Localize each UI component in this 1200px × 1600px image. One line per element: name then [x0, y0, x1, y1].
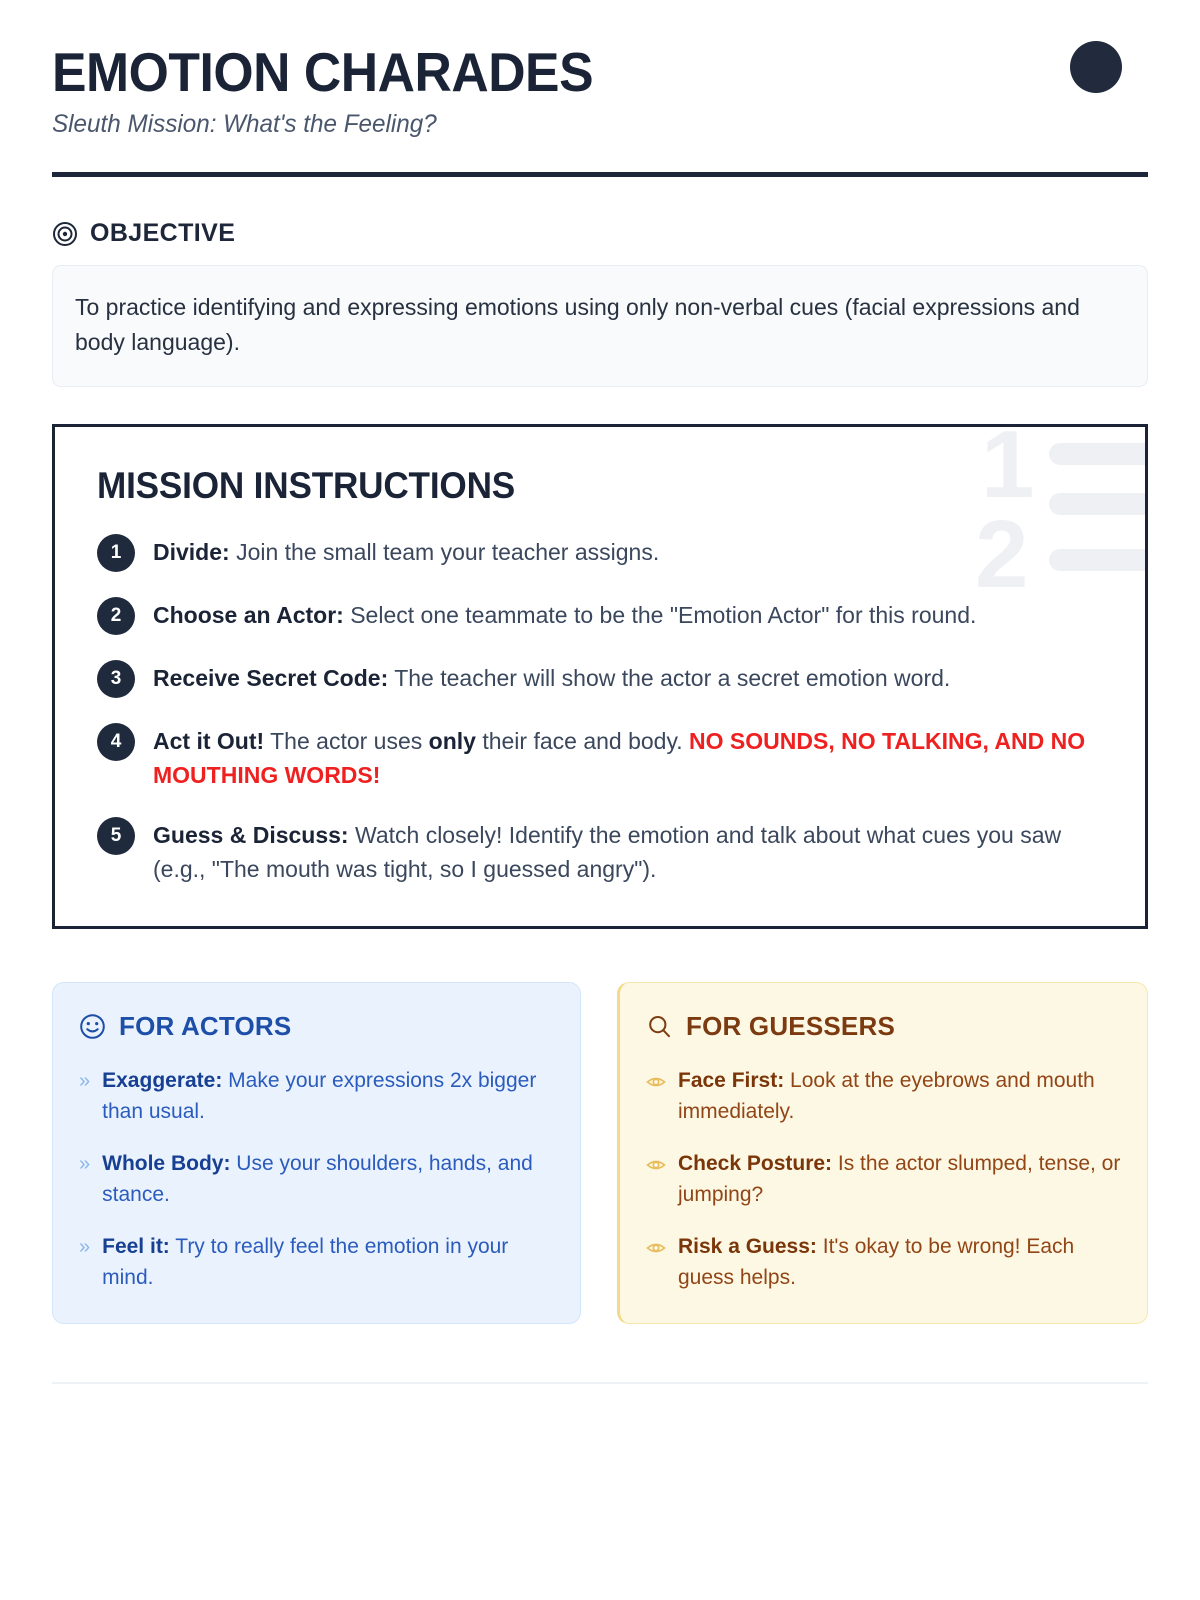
magnifier-icon: [646, 1013, 673, 1040]
step-number-badge: 4: [97, 723, 135, 761]
smiley-face-icon: [79, 1013, 106, 1040]
mission-step: 1 Divide: Join the small team your teach…: [97, 533, 1101, 572]
worksheet-page: EMOTION CHARADES Sleuth Mission: What's …: [0, 0, 1200, 1600]
target-icon: [52, 221, 78, 247]
tip-item: » Whole Body: Use your shoulders, hands,…: [79, 1149, 554, 1211]
tip-label: Face First:: [678, 1069, 784, 1092]
step-emphasis: only: [429, 728, 476, 754]
tip-item: » Exaggerate: Make your expressions 2x b…: [79, 1066, 554, 1128]
double-chevron-right-icon: »: [79, 1232, 90, 1262]
objective-box: To practice identifying and expressing e…: [52, 265, 1148, 387]
step-body-continued: their face and body.: [476, 728, 689, 754]
step-text: Act it Out! The actor uses only their fa…: [153, 722, 1101, 792]
tip-item: Risk a Guess: It's okay to be wrong! Eac…: [646, 1232, 1121, 1294]
step-number-badge: 5: [97, 817, 135, 855]
step-label: Choose an Actor:: [153, 602, 344, 628]
step-number-badge: 2: [97, 597, 135, 635]
tip-label: Whole Body:: [102, 1152, 230, 1175]
step-label: Guess & Discuss:: [153, 822, 349, 848]
step-body: Join the small team your teacher assigns…: [230, 539, 660, 565]
objective-heading-label: OBJECTIVE: [90, 219, 235, 248]
mission-step: 5 Guess & Discuss: Watch closely! Identi…: [97, 816, 1101, 886]
step-text: Receive Secret Code: The teacher will sh…: [153, 659, 950, 696]
tip-item: Face First: Look at the eyebrows and mou…: [646, 1066, 1121, 1128]
step-text: Choose an Actor: Select one teammate to …: [153, 596, 976, 633]
mission-step: 2 Choose an Actor: Select one teammate t…: [97, 596, 1101, 635]
objective-text: To practice identifying and expressing e…: [75, 290, 1125, 360]
objective-heading-row: OBJECTIVE: [52, 219, 1148, 248]
step-label: Receive Secret Code:: [153, 665, 388, 691]
mission-step: 4 Act it Out! The actor uses only their …: [97, 722, 1101, 792]
step-number-badge: 3: [97, 660, 135, 698]
tip-text: Feel it: Try to really feel the emotion …: [102, 1232, 554, 1294]
tip-label: Exaggerate:: [102, 1069, 222, 1092]
eye-icon: [646, 1149, 666, 1175]
tip-text: Whole Body: Use your shoulders, hands, a…: [102, 1149, 554, 1211]
mission-steps-list: 1 Divide: Join the small team your teach…: [97, 533, 1101, 886]
tip-label: Risk a Guess:: [678, 1235, 817, 1258]
tip-text: Check Posture: Is the actor slumped, ten…: [678, 1149, 1121, 1211]
mission-title: MISSION INSTRUCTIONS: [97, 465, 1051, 507]
step-body: Select one teammate to be the "Emotion A…: [344, 602, 977, 628]
step-text: Divide: Join the small team your teacher…: [153, 533, 659, 570]
eye-icon: [646, 1232, 666, 1258]
step-label: Divide:: [153, 539, 230, 565]
page-title: EMOTION CHARADES: [52, 44, 1082, 100]
double-chevron-right-icon: »: [79, 1149, 90, 1179]
for-guessers-card-heading-row: FOR GUESSERS: [646, 1011, 1121, 1042]
step-body: The teacher will show the actor a secret…: [388, 665, 950, 691]
tip-item: Check Posture: Is the actor slumped, ten…: [646, 1149, 1121, 1211]
double-chevron-right-icon: »: [79, 1066, 90, 1096]
step-body: The actor uses: [264, 728, 429, 754]
for-actors-card-heading-row: FOR ACTORS: [79, 1011, 554, 1042]
eye-icon: [646, 1066, 666, 1092]
mission-step: 3 Receive Secret Code: The teacher will …: [97, 659, 1101, 698]
for-actors-card-title: FOR ACTORS: [119, 1011, 291, 1042]
tip-text: Risk a Guess: It's okay to be wrong! Eac…: [678, 1232, 1121, 1294]
step-label: Act it Out!: [153, 728, 264, 754]
circle-badge-icon: [1070, 41, 1122, 93]
tip-label: Feel it:: [102, 1235, 170, 1258]
for-guessers-card: FOR GUESSERS Face First: Look at the eye…: [617, 982, 1148, 1324]
tip-item: » Feel it: Try to really feel the emotio…: [79, 1232, 554, 1294]
page-subtitle: Sleuth Mission: What's the Feeling?: [52, 110, 1115, 139]
tip-label: Check Posture:: [678, 1152, 832, 1175]
header-divider: [52, 172, 1148, 177]
step-text: Guess & Discuss: Watch closely! Identify…: [153, 816, 1101, 886]
page-header: EMOTION CHARADES Sleuth Mission: What's …: [52, 0, 1148, 177]
tip-text: Face First: Look at the eyebrows and mou…: [678, 1066, 1121, 1128]
mission-instructions-box: 1 2 MISSION INSTRUCTIONS 1 Divide: Join …: [52, 424, 1148, 929]
tip-text: Exaggerate: Make your expressions 2x big…: [102, 1066, 554, 1128]
tip-cards-row: FOR ACTORS » Exaggerate: Make your expre…: [52, 982, 1148, 1324]
for-guessers-card-title: FOR GUESSERS: [686, 1011, 895, 1042]
for-actors-card: FOR ACTORS » Exaggerate: Make your expre…: [52, 982, 581, 1324]
step-number-badge: 1: [97, 534, 135, 572]
section-divider: [52, 1382, 1148, 1384]
